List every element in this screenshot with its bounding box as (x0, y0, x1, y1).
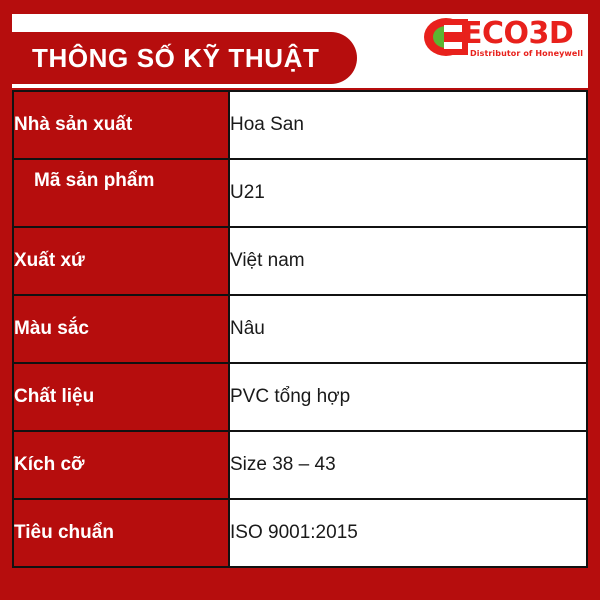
logo-wordmark: ECO3D (462, 19, 573, 49)
spec-value: Hoa San (229, 91, 587, 159)
spec-label: Kích cỡ (13, 431, 229, 499)
spec-value: ISO 9001:2015 (229, 499, 587, 567)
spec-label: Tiêu chuẩn (13, 499, 229, 567)
title-pill: THÔNG SỐ KỸ THUẬT (12, 32, 357, 84)
brand-logo: ECO3D Distributor of Honeywell (418, 13, 582, 63)
spec-sheet-page: THÔNG SỐ KỸ THUẬT ECO3D Distributor of H… (0, 0, 600, 600)
table-row: Xuất xứ Việt nam (13, 227, 587, 295)
spec-label: Nhà sản xuất (13, 91, 229, 159)
spec-label: Màu sắc (13, 295, 229, 363)
spec-value: Size 38 – 43 (229, 431, 587, 499)
table-row: Mã sản phẩm U21 (13, 159, 587, 227)
table-row: Nhà sản xuất Hoa San (13, 91, 587, 159)
table-row: Tiêu chuẩn ISO 9001:2015 (13, 499, 587, 567)
page-title: THÔNG SỐ KỸ THUẬT (12, 45, 320, 71)
spec-value: Nâu (229, 295, 587, 363)
spec-label-text: Mã sản phẩm (34, 170, 214, 192)
spec-value: Việt nam (229, 227, 587, 295)
logo-tagline: Distributor of Honeywell (470, 49, 583, 58)
table-row: Màu sắc Nâu (13, 295, 587, 363)
table-row: Kích cỡ Size 38 – 43 (13, 431, 587, 499)
table-row: Chất liệu PVC tổng hợp (13, 363, 587, 431)
spec-label: Mã sản phẩm (13, 159, 229, 227)
spec-value: U21 (229, 159, 587, 227)
specifications-table: Nhà sản xuất Hoa San Mã sản phẩm U21 Xuấ… (12, 90, 588, 568)
spec-label: Xuất xứ (13, 227, 229, 295)
spec-value: PVC tổng hợp (229, 363, 587, 431)
spec-label: Chất liệu (13, 363, 229, 431)
